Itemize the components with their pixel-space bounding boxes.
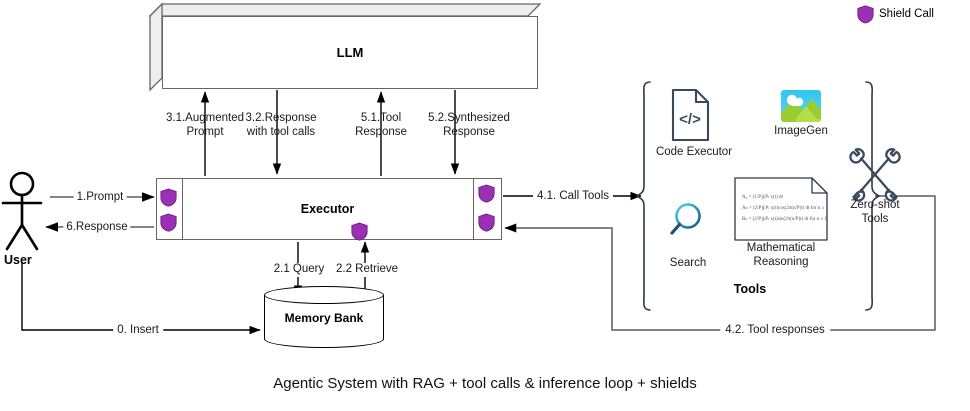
llm-node: LLM [150, 4, 540, 90]
formula-document-icon: A₀ = (1/P)∫₍P₎ x(t) dt Aₙ = (2/P)∫₍P₎ x(… [735, 178, 829, 240]
shield-icon-input-prompt [160, 188, 177, 207]
shield-icon-tool-call [478, 184, 495, 203]
svg-text:Aₙ = (2/P)∫₍P₎ x(t)cos(2π(n/P): Aₙ = (2/P)∫₍P₎ x(t)cos(2π(n/P)t) dt for … [742, 205, 829, 211]
shield-icon-tool-response [478, 213, 495, 232]
edge-label-synthesized-response: 5.2.Synthesized Response [417, 112, 521, 139]
executor-label: Executor [182, 178, 473, 240]
legend-label-shield-call: Shield Call [879, 8, 934, 20]
tool-label-math-reasoning: Mathematical Reasoning [747, 242, 815, 269]
edge-label-response-tool-calls: 3.2.Response with tool calls [231, 112, 331, 139]
edge-label-query: 2.1 Query [272, 263, 327, 277]
edge-label-response: 6.Response [63, 221, 130, 235]
edge-label-tool-responses: 4.2. Tool responses [720, 324, 830, 338]
tool-label-image-gen: ImageGen [774, 125, 828, 139]
diagram-caption: Agentic System with RAG + tool calls & i… [273, 375, 697, 392]
llm-label: LLM [162, 16, 538, 89]
shield-icon-output-response [160, 213, 177, 232]
edge-label-retrieve: 2.2 Retrieve [334, 263, 400, 277]
tool-label-zero-shot-tools: Zero-shot Tools [850, 199, 899, 226]
tool-label-code-executor: Code Executor [656, 146, 732, 160]
executor-right-divider [473, 178, 474, 240]
code-document-icon: </> [673, 90, 708, 140]
memory-bank-label: Memory Bank [264, 300, 384, 336]
edge-label-insert: 0. Insert [113, 324, 163, 338]
user-stick-figure [3, 173, 41, 249]
svg-text:A₀ = (1/P)∫₍P₎ x(t) dt: A₀ = (1/P)∫₍P₎ x(t) dt [742, 194, 783, 200]
shield-icon-memory-retrieve [351, 222, 368, 241]
edge-label-prompt: 1.Prompt [74, 191, 127, 205]
edge-label-tool-response: 5.1.Tool Response [343, 112, 419, 139]
svg-text:Bₙ = (2/P)∫₍P₎ x(t)sin(2π(n/P): Bₙ = (2/P)∫₍P₎ x(t)sin(2π(n/P)t) dt for … [742, 216, 828, 222]
image-picture-icon [781, 90, 821, 122]
tool-label-search: Search [670, 257, 706, 271]
tools-group-label: Tools [734, 282, 766, 296]
shield-icon-legend [857, 5, 874, 24]
memory-bank-node: Memory Bank [264, 286, 384, 348]
magnifier-icon [672, 205, 700, 234]
user-label: User [4, 253, 32, 267]
svg-text:</>: </> [679, 111, 701, 128]
edge-label-call-tools: 4.1. Call Tools [533, 190, 613, 204]
